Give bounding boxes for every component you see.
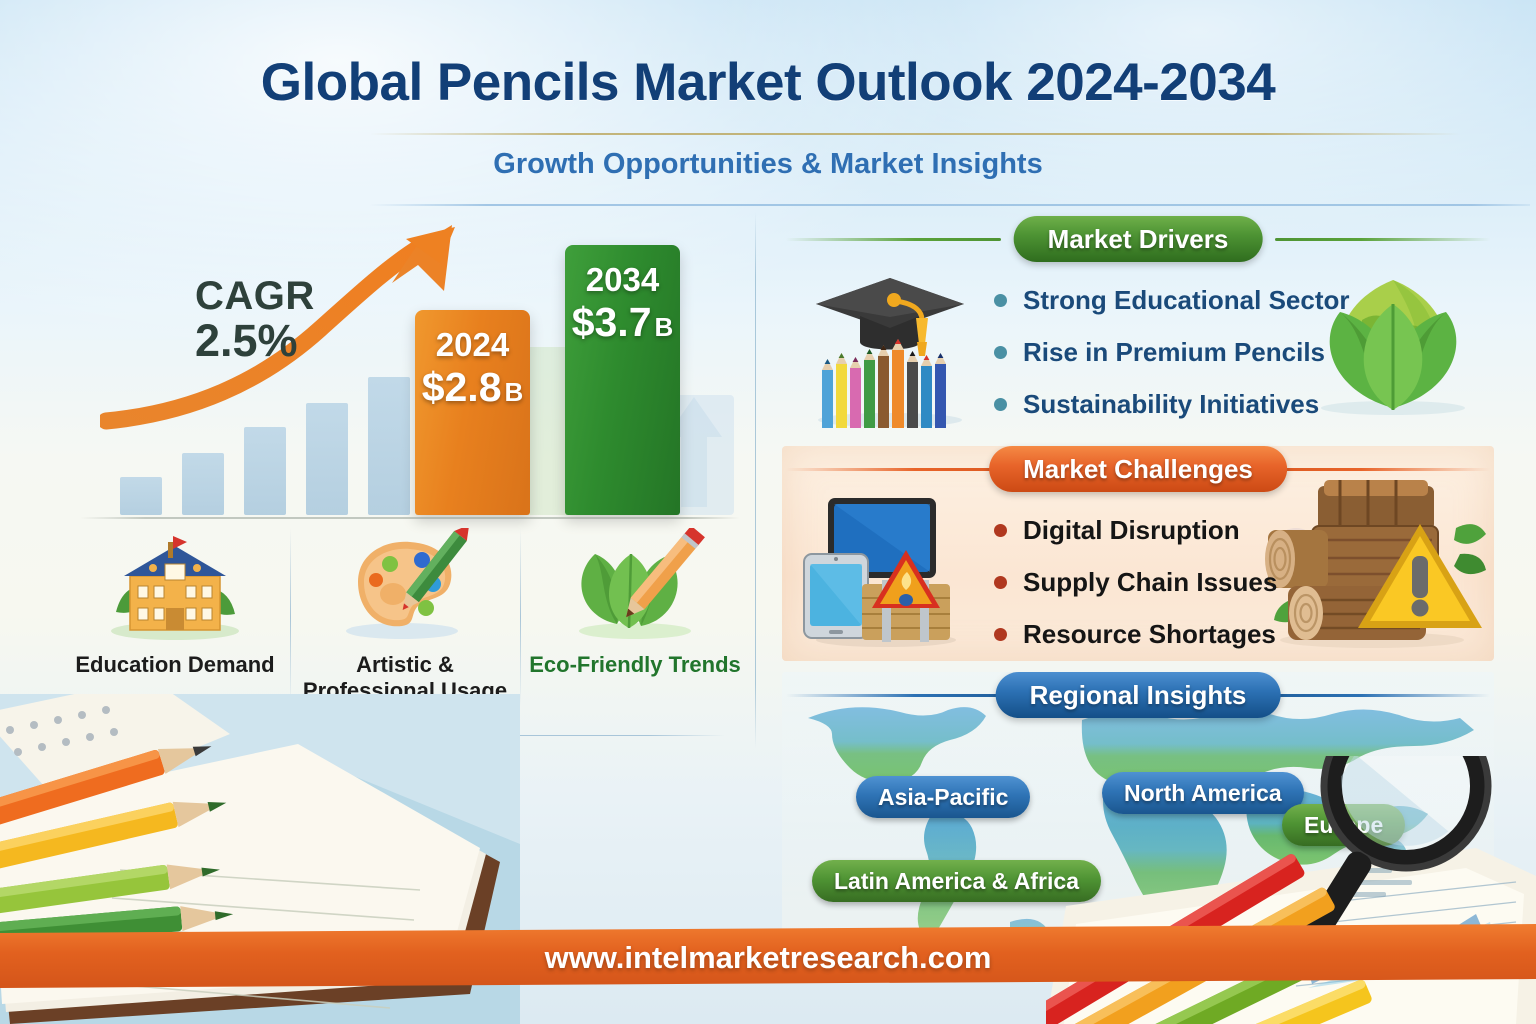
challenges-bullet-label: Resource Shortages (1023, 619, 1276, 650)
regions-badge[interactable]: Regional Insights (996, 672, 1281, 718)
footer-website[interactable]: www.intelmarketresearch.com (0, 940, 1536, 976)
bullet-dot-icon (994, 628, 1007, 641)
drivers-bullets: Strong Educational Sector Rise in Premiu… (994, 274, 1350, 430)
growth-chart: CAGR 2.5% 2024 $2.8B 2034 $3.7B (60, 215, 750, 515)
bullet-dot-icon (994, 346, 1007, 359)
badge-rule-left (786, 238, 1001, 241)
regions-badge-wrap: Regional Insights (782, 672, 1494, 718)
driver-card-label: Eco-Friendly Trends (520, 652, 750, 678)
challenges-badge[interactable]: Market Challenges (989, 446, 1287, 492)
school-building-icon (60, 522, 290, 640)
badge-rule-right (1275, 468, 1490, 471)
badge-rule-right (1275, 238, 1490, 241)
region-pill-asia-pacific[interactable]: Asia-Pacific (856, 776, 1030, 818)
bar-2034-value: $3.7B (565, 299, 680, 346)
leaf-pencil-icon (520, 522, 750, 640)
column-divider (755, 212, 756, 748)
cagr-label: CAGR (195, 275, 315, 317)
background-bar (120, 477, 162, 515)
bar-2034-year: 2034 (565, 261, 680, 299)
wood-logs-warning-icon (1260, 478, 1490, 650)
challenges-bullet-label: Supply Chain Issues (1023, 567, 1277, 598)
bullet-dot-icon (994, 294, 1007, 307)
bar-2024-year: 2024 (415, 326, 530, 364)
cagr-value: 2.5% (195, 317, 315, 364)
drivers-bullet-label: Rise in Premium Pencils (1023, 337, 1325, 368)
drivers-badge[interactable]: Market Drivers (1014, 216, 1263, 262)
magnifier-report-photo (1046, 756, 1536, 1024)
drivers-bullet-item: Sustainability Initiatives (994, 378, 1350, 430)
page-subtitle: Growth Opportunities & Market Insights (0, 148, 1536, 181)
chart-baseline (80, 517, 740, 519)
drivers-bullet-item: Strong Educational Sector (994, 274, 1350, 326)
page-title: Global Pencils Market Outlook 2024-2034 (0, 52, 1536, 113)
bullet-dot-icon (994, 576, 1007, 589)
driver-card-eco[interactable]: Eco-Friendly Trends (520, 522, 750, 732)
drivers-bullet-label: Strong Educational Sector (1023, 285, 1350, 316)
palette-pencil-icon (290, 522, 520, 640)
bar-2024-unit: B (505, 377, 524, 407)
badge-rule-left (786, 694, 1001, 697)
challenges-bullet-item: Supply Chain Issues (994, 556, 1277, 608)
panel-market-challenges: Market Challenges (782, 446, 1494, 661)
bullet-dot-icon (994, 524, 1007, 537)
badge-rule-left (786, 468, 1001, 471)
bullet-dot-icon (994, 398, 1007, 411)
drivers-bullet-label: Sustainability Initiatives (1023, 389, 1319, 420)
cagr-callout: CAGR 2.5% (195, 275, 315, 364)
challenges-bullet-item: Digital Disruption (994, 504, 1277, 556)
drivers-bullet-item: Rise in Premium Pencils (994, 326, 1350, 378)
bar-2034-unit: B (655, 312, 674, 342)
challenges-bullet-item: Resource Shortages (994, 608, 1277, 660)
bar-2024: 2024 $2.8B (415, 310, 530, 515)
infographic-canvas: Global Pencils Market Outlook 2024-2034 … (0, 0, 1536, 1024)
background-bar (182, 453, 224, 515)
laptop-tablet-container-icon (796, 488, 976, 648)
subtitle-divider (370, 204, 1530, 206)
title-divider (370, 133, 1460, 135)
badge-rule-right (1275, 694, 1490, 697)
graduation-cap-pencils-icon (798, 256, 983, 428)
panel-market-drivers: Market Drivers (782, 216, 1494, 431)
driver-card-label: Education Demand (60, 652, 290, 678)
bar-2034: 2034 $3.7B (565, 245, 680, 515)
bar-2024-value: $2.8B (415, 364, 530, 411)
challenges-bullets: Digital Disruption Supply Chain Issues R… (994, 504, 1277, 660)
challenges-bullet-label: Digital Disruption (1023, 515, 1240, 546)
